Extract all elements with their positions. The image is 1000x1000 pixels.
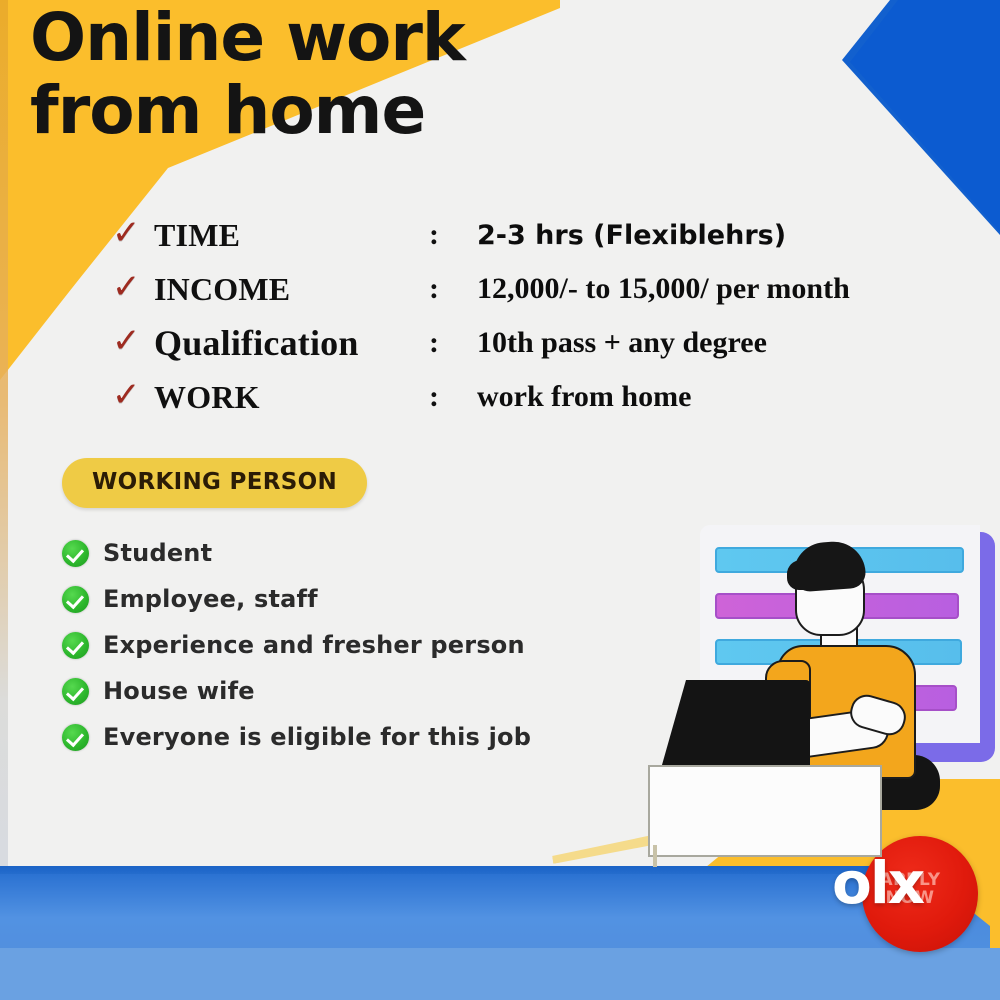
desk-leg-shape <box>653 845 657 867</box>
list-item: Student <box>62 530 622 576</box>
spec-label-work: WORK <box>154 379 429 416</box>
blue-banner-bottom-inner <box>0 874 950 954</box>
green-check-circle-icon <box>62 632 89 659</box>
eligibility-label: Student <box>103 539 212 567</box>
headline-line-1: Online work <box>30 6 650 71</box>
check-mark-icon: ✓ <box>112 324 154 358</box>
spec-row-qualification: ✓ Qualification : 10th pass + any degree <box>112 316 992 370</box>
spec-value-time: 2-3 hrs (Flexiblehrs) <box>477 220 786 251</box>
spec-label-time: TIME <box>154 217 429 254</box>
eligibility-label: Everyone is eligible for this job <box>103 723 531 751</box>
person-hair-side-shape <box>787 560 813 590</box>
spec-row-work: ✓ WORK : work from home <box>112 370 992 424</box>
spec-colon: : <box>429 272 477 306</box>
list-item: Employee, staff <box>62 576 622 622</box>
spec-value-income: 12,000/- to 15,000/ per month <box>477 272 850 306</box>
check-mark-icon: ✓ <box>112 216 154 250</box>
green-check-circle-icon <box>62 724 89 751</box>
check-mark-icon: ✓ <box>112 378 154 412</box>
spec-value-qualification: 10th pass + any degree <box>477 326 767 360</box>
list-item: Experience and fresher person <box>62 622 622 668</box>
work-from-home-illustration <box>645 520 995 870</box>
check-mark-icon: ✓ <box>112 270 154 304</box>
spec-row-time: ✓ TIME : 2-3 hrs (Flexiblehrs) <box>112 208 992 262</box>
light-blue-footer-strip <box>0 948 1000 1000</box>
green-check-circle-icon <box>62 678 89 705</box>
eligibility-label: Employee, staff <box>103 585 318 613</box>
page-title: Online work from home <box>30 6 650 143</box>
poster-canvas: Online work from home ✓ TIME : 2-3 hrs (… <box>0 0 1000 1000</box>
olx-brand-text: olx <box>832 854 972 912</box>
green-check-circle-icon <box>62 586 89 613</box>
eligibility-list: Student Employee, staff Experience and f… <box>62 530 622 760</box>
spec-list: ✓ TIME : 2-3 hrs (Flexiblehrs) ✓ INCOME … <box>112 208 992 424</box>
green-check-circle-icon <box>62 540 89 567</box>
list-item: House wife <box>62 668 622 714</box>
left-edge-strip <box>0 0 8 1000</box>
spec-label-qualification: Qualification <box>154 322 429 364</box>
headline-line-2: from home <box>30 79 650 144</box>
spec-colon: : <box>429 380 477 414</box>
list-item: Everyone is eligible for this job <box>62 714 622 760</box>
laptop-icon <box>660 680 810 772</box>
desk-shape <box>648 765 882 857</box>
eligibility-label: Experience and fresher person <box>103 631 525 659</box>
working-person-badge: WORKING PERSON <box>62 458 367 508</box>
spec-label-income: INCOME <box>154 271 429 308</box>
spec-value-work: work from home <box>477 380 691 414</box>
working-person-badge-label: WORKING PERSON <box>92 469 337 495</box>
eligibility-label: House wife <box>103 677 255 705</box>
spec-row-income: ✓ INCOME : 12,000/- to 15,000/ per month <box>112 262 992 316</box>
spec-colon: : <box>429 326 477 360</box>
spec-colon: : <box>429 218 477 252</box>
